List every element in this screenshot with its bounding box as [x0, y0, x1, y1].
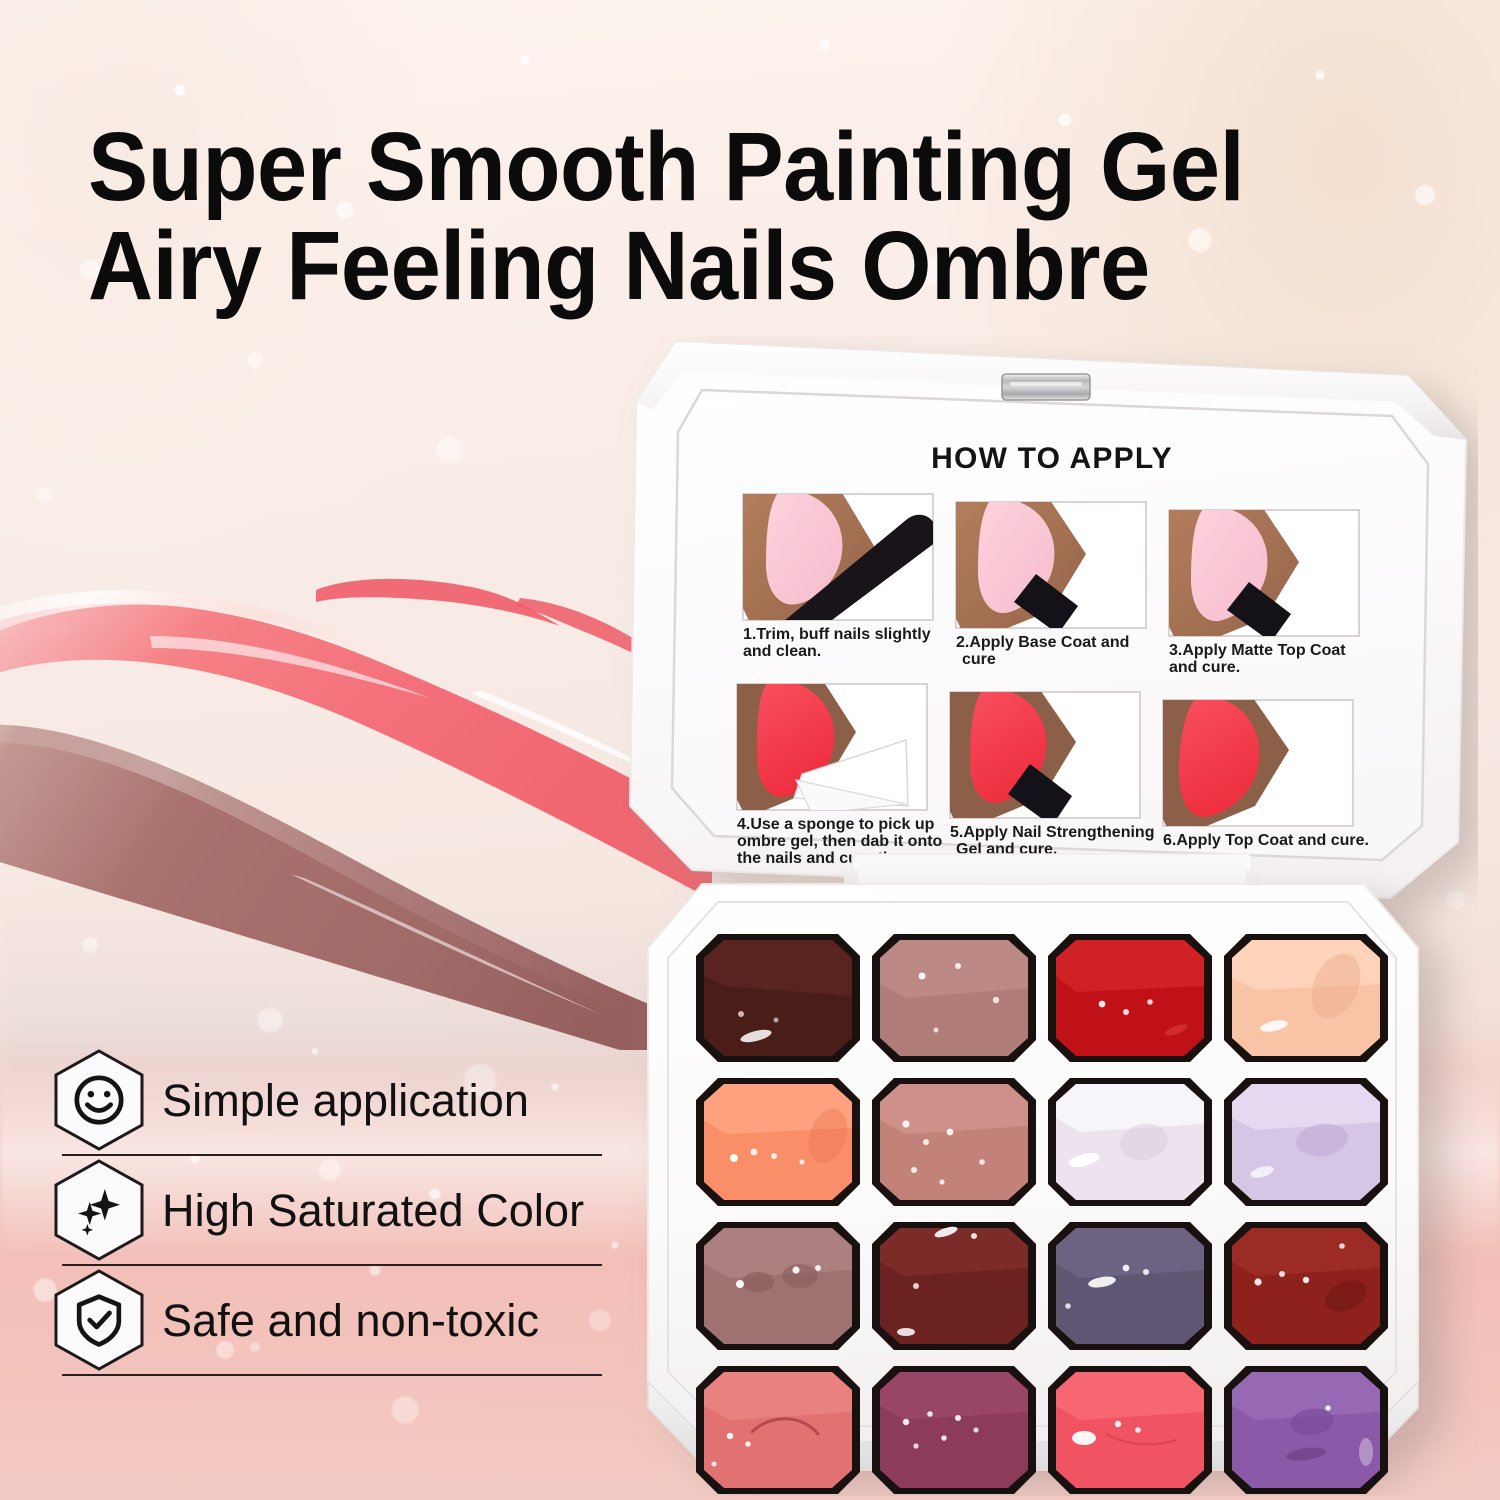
- swatch-pan[interactable]: [1224, 1222, 1388, 1350]
- headline-line-2: Airy Feeling Nails Ombre: [88, 217, 1353, 316]
- sparkle-stars-icon: [71, 1182, 127, 1238]
- swatch-pan[interactable]: [872, 1366, 1036, 1494]
- svg-text:ombre gel, then dab it onto: ombre gel, then dab it onto: [737, 833, 943, 850]
- feature-divider-3: [62, 1374, 602, 1376]
- svg-text:6.Apply Top Coat and cure.: 6.Apply Top Coat and cure.: [1163, 832, 1369, 849]
- swatch-pan[interactable]: [696, 1078, 860, 1206]
- svg-text:2.Apply Base Coat and: 2.Apply Base Coat and: [956, 634, 1129, 651]
- svg-text:3.Apply Matte Top Coat: 3.Apply Matte Top Coat: [1169, 642, 1346, 659]
- swatch-pan[interactable]: [1048, 1078, 1212, 1206]
- swatch-pan[interactable]: [1224, 1078, 1388, 1206]
- swatch-pan[interactable]: [1224, 934, 1388, 1062]
- swatch-pan[interactable]: [1048, 1366, 1212, 1494]
- swatch-pan[interactable]: [1224, 1366, 1388, 1494]
- swatch-pan[interactable]: [872, 934, 1036, 1062]
- smiley-face-icon: [71, 1072, 127, 1128]
- step-panel-2: [936, 494, 1146, 644]
- svg-text:4.Use a sponge to pick up: 4.Use a sponge to pick up: [737, 816, 935, 833]
- feature-icon-badge: [52, 1268, 146, 1372]
- feature-icon-badge: [52, 1158, 146, 1262]
- step-panel-4: [716, 676, 927, 818]
- svg-text:cure: cure: [962, 651, 996, 668]
- feature-item-high-saturated-color: High Saturated Color: [52, 1158, 598, 1262]
- gel-palette-product: HOW TO APPLY: [606, 336, 1478, 1496]
- svg-text:1.Trim, buff nails slightly: 1.Trim, buff nails slightly: [743, 626, 931, 643]
- feature-list: Simple application High Saturated Color: [52, 1048, 598, 1378]
- feature-label: Simple application: [162, 1078, 529, 1123]
- shield-check-icon: [71, 1292, 127, 1348]
- feature-label: Safe and non-toxic: [162, 1298, 539, 1343]
- svg-text:and clean.: and clean.: [743, 643, 821, 660]
- swatch-pan[interactable]: [1048, 934, 1212, 1062]
- product-marketing-image: Super Smooth Painting Gel Airy Feeling N…: [0, 0, 1500, 1500]
- feature-item-simple-application: Simple application: [52, 1048, 598, 1152]
- swatch-pan[interactable]: [696, 1366, 860, 1494]
- swatch-pan[interactable]: [872, 1222, 1036, 1350]
- page-title: Super Smooth Painting Gel Airy Feeling N…: [88, 118, 1448, 316]
- step-panel-5: [928, 684, 1140, 834]
- swatch-pan[interactable]: [696, 934, 860, 1062]
- swatch-pan[interactable]: [696, 1222, 860, 1350]
- step-panel-6: [1141, 692, 1353, 840]
- swatch-pan[interactable]: [1048, 1222, 1212, 1350]
- how-to-apply-title: HOW TO APPLY: [931, 442, 1173, 475]
- feature-label: High Saturated Color: [162, 1188, 584, 1233]
- headline-line-1: Super Smooth Painting Gel: [88, 118, 1353, 217]
- swatch-pan[interactable]: [872, 1078, 1036, 1206]
- lid-clasp[interactable]: [1002, 374, 1090, 400]
- feature-item-safe-non-toxic: Safe and non-toxic: [52, 1268, 598, 1372]
- feature-divider-1: [62, 1154, 602, 1156]
- feature-icon-badge: [52, 1048, 146, 1152]
- svg-text:and cure.: and cure.: [1169, 659, 1240, 676]
- step-panel-3: [1149, 502, 1359, 652]
- feature-divider-2: [62, 1264, 602, 1266]
- svg-text:5.Apply Nail Strengthening: 5.Apply Nail Strengthening: [950, 824, 1154, 841]
- background-warm-glow-left: [0, 0, 630, 690]
